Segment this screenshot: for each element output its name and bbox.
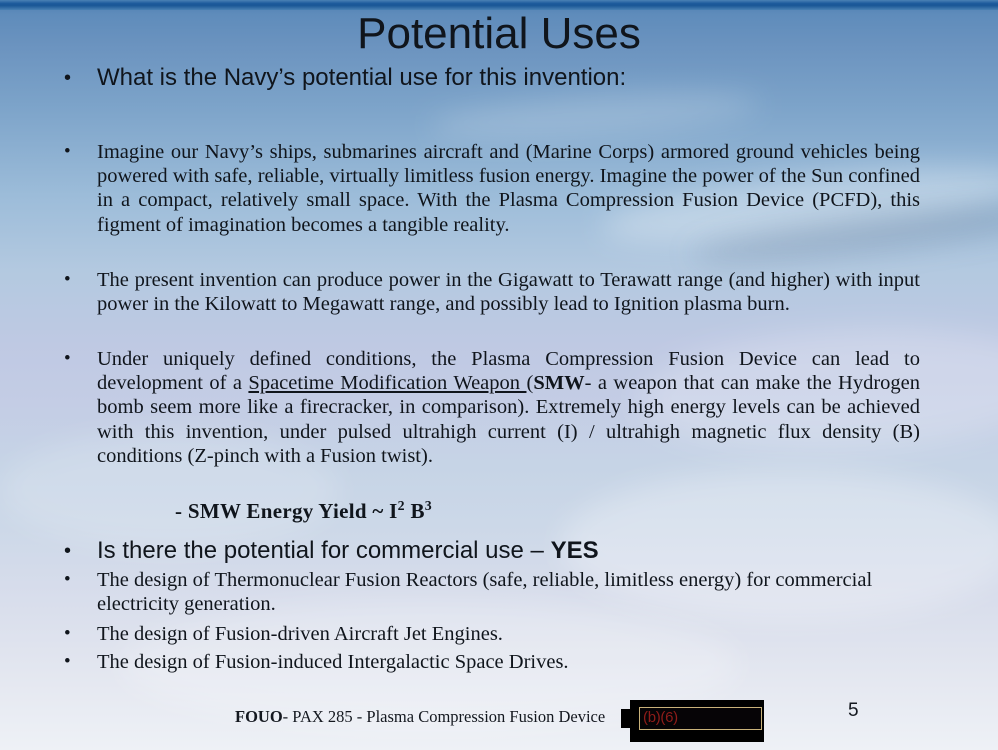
- bullet-marker: [64, 568, 97, 592]
- bullet-text: The design of Fusion-driven Aircraft Jet…: [97, 622, 920, 646]
- bullet-imagine-paragraph: Imagine our Navy’s ships, submarines air…: [64, 140, 920, 237]
- bullet-commercial-use-question: Is there the potential for commercial us…: [64, 536, 944, 566]
- bullet-text: The design of Thermonuclear Fusion React…: [97, 568, 920, 616]
- foia-exemption-label: (b)(6): [643, 708, 678, 728]
- smw-energy-yield-formula: - SMW Energy Yield ~ I2 B3: [175, 499, 432, 524]
- formula-prefix: - SMW Energy Yield ~ I: [175, 499, 398, 523]
- redaction-box: (b)(6): [621, 700, 764, 742]
- bullet-text: Imagine our Navy’s ships, submarines air…: [97, 140, 920, 237]
- slide-title: Potential Uses: [0, 6, 998, 62]
- smw-abbreviation: SMW: [533, 372, 584, 394]
- bullet-text: The present invention can produce power …: [97, 268, 920, 316]
- bullet-marker: [64, 536, 97, 566]
- bullet-text: What is the Navy’s potential use for thi…: [97, 63, 944, 93]
- fouo-marking: FOUO: [235, 707, 283, 726]
- bullet-power-range-paragraph: The present invention can produce power …: [64, 268, 920, 316]
- bullet-thermonuclear-reactors: The design of Thermonuclear Fusion React…: [64, 568, 920, 616]
- footer-caption: - PAX 285 - Plasma Compression Fusion De…: [283, 707, 606, 726]
- spacetime-weapon-underlined: Spacetime Modification Weapon: [248, 372, 526, 394]
- bullet-marker: [64, 63, 97, 93]
- bullet-jet-engines: The design of Fusion-driven Aircraft Jet…: [64, 622, 920, 646]
- bullet-text: Under uniquely defined conditions, the P…: [97, 347, 920, 468]
- bullet-marker: [64, 347, 97, 371]
- formula-exponent-flux: 3: [425, 498, 432, 513]
- formula-middle: B: [405, 499, 425, 523]
- bullet-navy-use-question: What is the Navy’s potential use for thi…: [64, 63, 944, 93]
- bullet-text: The design of Fusion-induced Intergalact…: [97, 650, 920, 674]
- commercial-use-lead: Is there the potential for commercial us…: [97, 537, 551, 564]
- bullet-marker: [64, 140, 97, 164]
- bullet-space-drives: The design of Fusion-induced Intergalact…: [64, 650, 920, 674]
- bullet-marker: [64, 268, 97, 292]
- page-number: 5: [848, 700, 859, 722]
- bullet-smw-paragraph: Under uniquely defined conditions, the P…: [64, 347, 920, 468]
- bullet-text: Is there the potential for commercial us…: [97, 536, 944, 566]
- bullet-marker: [64, 650, 97, 674]
- commercial-use-answer: YES: [551, 537, 599, 564]
- slide-footer: FOUO- PAX 285 - Plasma Compression Fusio…: [235, 707, 605, 727]
- bullet-marker: [64, 622, 97, 646]
- formula-exponent-current: 2: [398, 498, 405, 513]
- presentation-slide: Potential Uses What is the Navy’s potent…: [0, 0, 998, 750]
